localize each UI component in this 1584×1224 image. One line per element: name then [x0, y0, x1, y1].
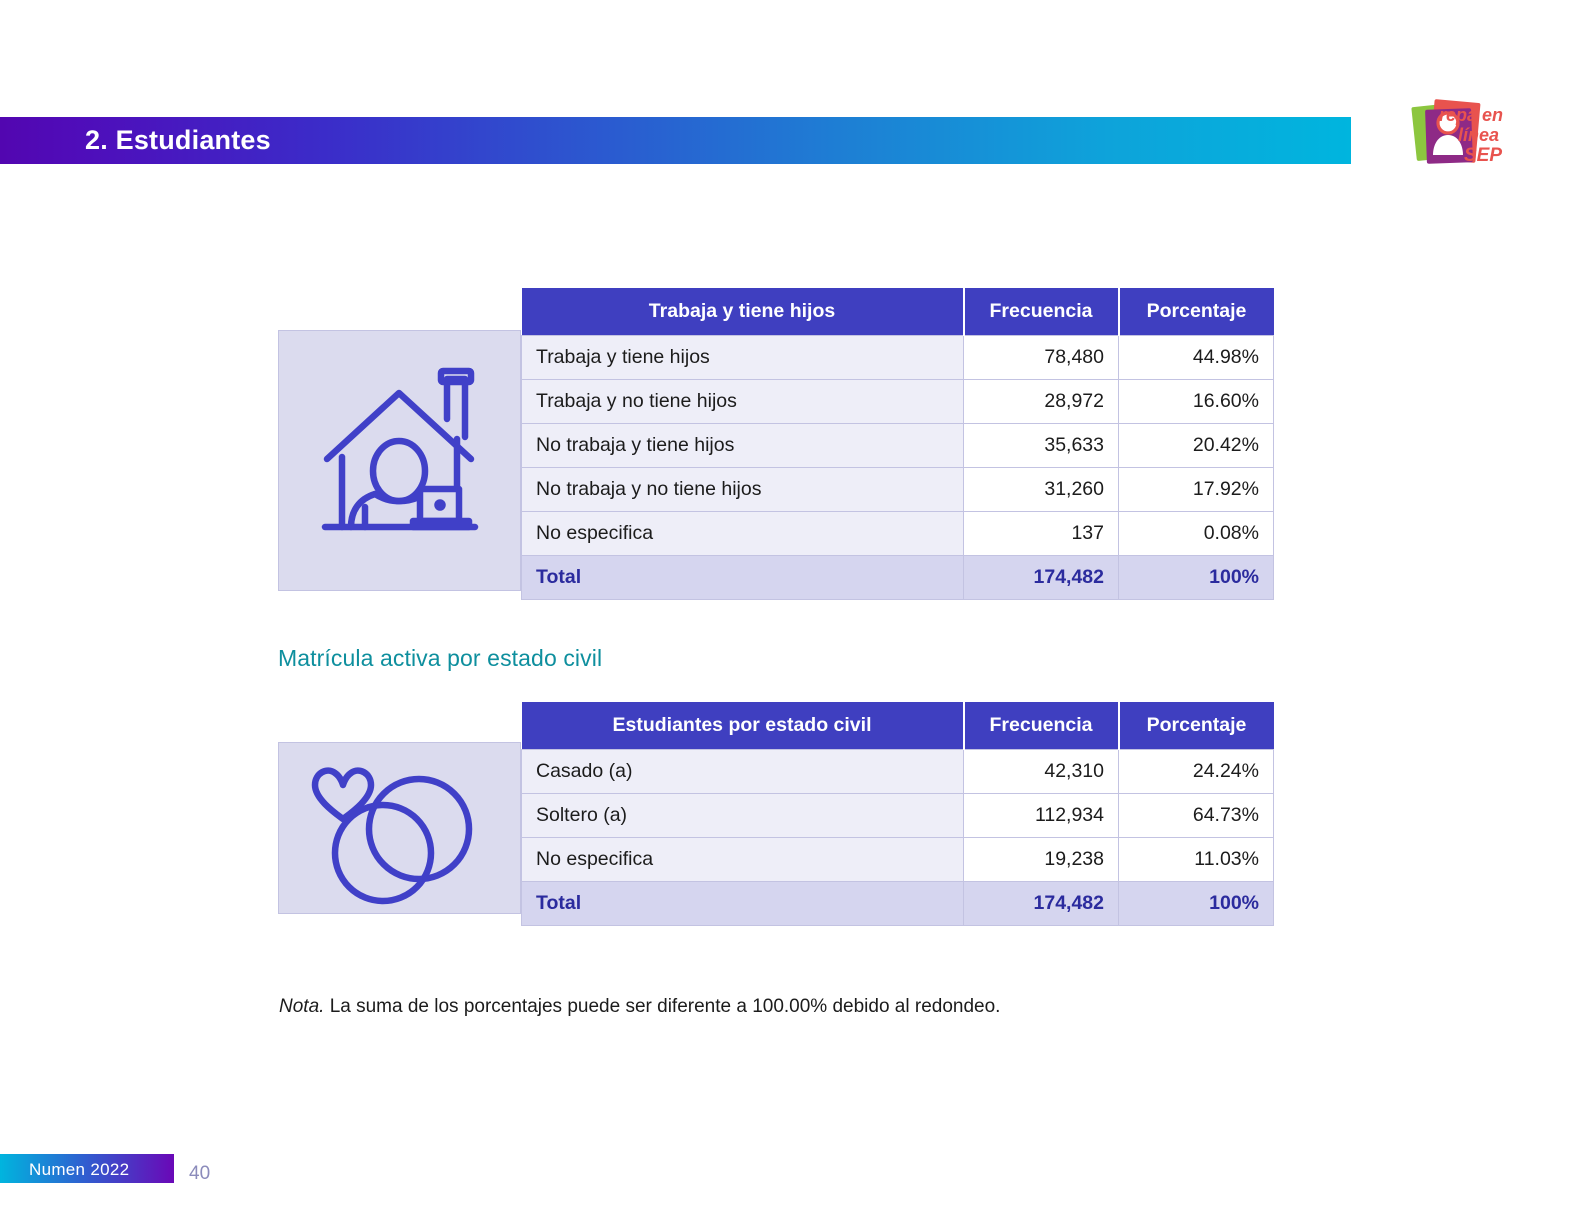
cell-porcentaje: 64.73%: [1119, 793, 1274, 837]
footnote-emphasis: Nota.: [279, 996, 324, 1017]
document-page: 2. Estudiantes repa en línea SE: [0, 0, 1584, 1224]
wedding-rings-heart-icon-panel: [278, 742, 521, 914]
page-number: 40: [189, 1163, 210, 1185]
table-trabaja-hijos: Trabaja y tiene hijos Frecuencia Porcent…: [521, 288, 1274, 600]
cell-total-frecuencia: 174,482: [964, 881, 1119, 925]
cell-label: No trabaja y no tiene hijos: [522, 467, 964, 511]
cell-total-porcentaje: 100%: [1119, 881, 1274, 925]
table-total-row: Total 174,482 100%: [522, 555, 1274, 599]
table-row: No especifica 19,238 11.03%: [522, 837, 1274, 881]
cell-label: No especifica: [522, 511, 964, 555]
table-row: Trabaja y tiene hijos 78,480 44.98%: [522, 335, 1274, 379]
prepa-en-linea-sep-logo: repa en línea SEP: [1406, 93, 1526, 179]
column-header-categoria: Estudiantes por estado civil: [522, 702, 964, 749]
svg-text:repa en: repa en: [1439, 105, 1503, 125]
cell-total-porcentaje: 100%: [1119, 555, 1274, 599]
footnote-text: La suma de los porcentajes puede ser dif…: [324, 996, 1000, 1017]
page-title: 2. Estudiantes: [85, 124, 271, 157]
cell-porcentaje: 11.03%: [1119, 837, 1274, 881]
cell-frecuencia: 137: [964, 511, 1119, 555]
cell-frecuencia: 19,238: [964, 837, 1119, 881]
cell-frecuencia: 78,480: [964, 335, 1119, 379]
table-row: No trabaja y tiene hijos 35,633 20.42%: [522, 423, 1274, 467]
column-header-frecuencia: Frecuencia: [964, 288, 1119, 335]
wedding-rings-heart-icon: [279, 743, 520, 913]
table-row: Soltero (a) 112,934 64.73%: [522, 793, 1274, 837]
cell-total-frecuencia: 174,482: [964, 555, 1119, 599]
house-person-laptop-icon-panel: [278, 330, 521, 591]
house-person-laptop-icon: [279, 331, 520, 590]
cell-frecuencia: 112,934: [964, 793, 1119, 837]
cell-porcentaje: 44.98%: [1119, 335, 1274, 379]
cell-label: No especifica: [522, 837, 964, 881]
cell-total-label: Total: [522, 555, 964, 599]
table-estado-civil: Estudiantes por estado civil Frecuencia …: [521, 702, 1274, 926]
cell-frecuencia: 31,260: [964, 467, 1119, 511]
footer-label: Numen 2022: [29, 1160, 129, 1180]
cell-porcentaje: 20.42%: [1119, 423, 1274, 467]
svg-text:línea: línea: [1458, 125, 1499, 145]
cell-frecuencia: 42,310: [964, 749, 1119, 793]
cell-porcentaje: 16.60%: [1119, 379, 1274, 423]
cell-label: Trabaja y no tiene hijos: [522, 379, 964, 423]
section-heading-estado-civil: Matrícula activa por estado civil: [278, 645, 602, 672]
cell-label: Trabaja y tiene hijos: [522, 335, 964, 379]
cell-frecuencia: 35,633: [964, 423, 1119, 467]
table-total-row: Total 174,482 100%: [522, 881, 1274, 925]
cell-frecuencia: 28,972: [964, 379, 1119, 423]
table-header-row: Estudiantes por estado civil Frecuencia …: [522, 702, 1274, 749]
svg-text:SEP: SEP: [1464, 145, 1502, 166]
cell-porcentaje: 0.08%: [1119, 511, 1274, 555]
cell-porcentaje: 17.92%: [1119, 467, 1274, 511]
column-header-porcentaje: Porcentaje: [1119, 702, 1274, 749]
cell-label: Soltero (a): [522, 793, 964, 837]
cell-label: Casado (a): [522, 749, 964, 793]
column-header-frecuencia: Frecuencia: [964, 702, 1119, 749]
column-header-porcentaje: Porcentaje: [1119, 288, 1274, 335]
cell-porcentaje: 24.24%: [1119, 749, 1274, 793]
cell-label: No trabaja y tiene hijos: [522, 423, 964, 467]
footnote: Nota. La suma de los porcentajes puede s…: [279, 996, 1000, 1018]
table-header-row: Trabaja y tiene hijos Frecuencia Porcent…: [522, 288, 1274, 335]
column-header-categoria: Trabaja y tiene hijos: [522, 288, 964, 335]
table-row: Casado (a) 42,310 24.24%: [522, 749, 1274, 793]
table-row: No especifica 137 0.08%: [522, 511, 1274, 555]
table-row: No trabaja y no tiene hijos 31,260 17.92…: [522, 467, 1274, 511]
cell-total-label: Total: [522, 881, 964, 925]
table-row: Trabaja y no tiene hijos 28,972 16.60%: [522, 379, 1274, 423]
